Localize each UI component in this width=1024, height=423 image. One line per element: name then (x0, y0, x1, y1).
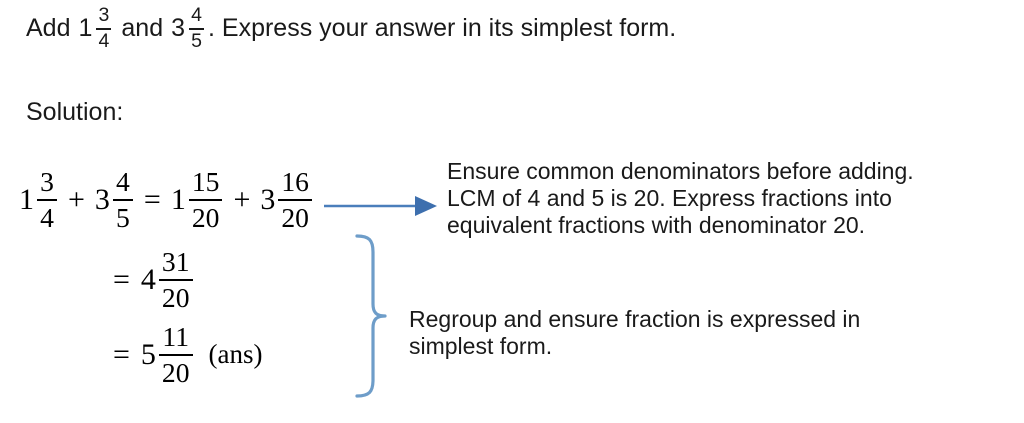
question-conjunction: and (121, 16, 163, 41)
operator-plus: + (68, 185, 85, 215)
fraction-bar (159, 354, 193, 357)
fraction-bar (159, 279, 193, 282)
question-second-fraction: 4 5 (189, 6, 204, 51)
fraction-denominator: 20 (159, 359, 193, 387)
fraction-denominator: 5 (189, 32, 204, 52)
term-fraction: 16 20 (278, 168, 312, 232)
term-fraction: 3 4 (37, 168, 57, 232)
fraction-numerator: 3 (37, 168, 57, 196)
operator-plus: + (233, 185, 250, 215)
fraction-bar (278, 199, 312, 202)
equation-line-3: = 5 11 20 (ans) (113, 323, 263, 387)
term-fraction: 11 20 (159, 323, 193, 387)
fraction-denominator: 4 (37, 204, 57, 232)
arrow-connector-icon (322, 190, 444, 222)
fraction-numerator: 31 (159, 248, 193, 276)
answer-tag: (ans) (209, 341, 263, 368)
fraction-numerator: 4 (189, 6, 204, 26)
annotation-regroup-simplify: Regroup and ensure fraction is expressed… (409, 306, 1009, 360)
fraction-denominator: 20 (189, 204, 223, 232)
fraction-denominator: 20 (159, 284, 193, 312)
annotation-line: Regroup and ensure fraction is expressed… (409, 306, 1009, 333)
question-prefix: Add (26, 16, 70, 41)
term-whole: 1 (19, 185, 34, 215)
annotation-line: LCM of 4 and 5 is 20. Express fractions … (447, 185, 1024, 212)
term-whole: 3 (95, 185, 110, 215)
fraction-numerator: 11 (159, 323, 192, 351)
fraction-denominator: 20 (278, 204, 312, 232)
fraction-bar (189, 199, 223, 202)
solution-label: Solution: (26, 100, 123, 125)
term-whole: 3 (260, 185, 275, 215)
fraction-numerator: 15 (189, 168, 223, 196)
fraction-denominator: 4 (96, 32, 111, 52)
fraction-bar (37, 199, 57, 202)
fraction-numerator: 4 (113, 168, 133, 196)
annotation-line: equivalent fractions with denominator 20… (447, 212, 1024, 239)
curly-brace-icon (352, 232, 398, 400)
question-suffix: . Express your answer in its simplest fo… (208, 16, 676, 41)
term-fraction: 31 20 (159, 248, 193, 312)
term-whole: 1 (171, 185, 186, 215)
question-second-whole: 3 (171, 16, 185, 41)
question-first-fraction: 3 4 (96, 6, 111, 51)
term-whole: 4 (141, 265, 156, 295)
fraction-numerator: 3 (96, 6, 111, 26)
term-fraction: 15 20 (189, 168, 223, 232)
fraction-denominator: 5 (113, 204, 133, 232)
question-first-whole: 1 (78, 16, 92, 41)
equation-line-2: = 4 31 20 (113, 248, 195, 312)
operator-equals: = (113, 340, 130, 370)
annotation-common-denominators: Ensure common denominators before adding… (447, 158, 1024, 239)
fraction-numerator: 16 (278, 168, 312, 196)
operator-equals: = (113, 265, 130, 295)
equation-line-1: 1 3 4 + 3 4 5 = 1 15 20 + 3 16 20 (18, 168, 314, 232)
annotation-line: Ensure common denominators before adding… (447, 158, 1024, 185)
operator-equals: = (144, 185, 161, 215)
question-statement: Add 1 3 4 and 3 4 5 . Express your answe… (26, 6, 676, 51)
term-whole: 5 (141, 340, 156, 370)
term-fraction: 4 5 (113, 168, 133, 232)
fraction-bar (113, 199, 133, 202)
annotation-line: simplest form. (409, 333, 1009, 360)
